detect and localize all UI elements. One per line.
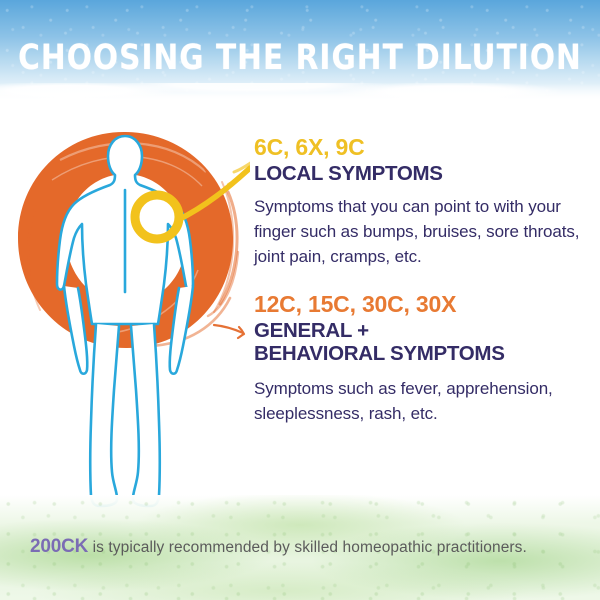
kicker-local-line1: LOCAL SYMPTOMS	[254, 162, 443, 185]
kicker-local: LOCAL SYMPTOMS	[254, 162, 584, 185]
body-diagram-svg	[0, 120, 250, 530]
footer-note: 200CK is typically recommended by skille…	[30, 536, 527, 558]
description-general: Symptoms such as fever, apprehension, sl…	[254, 376, 584, 426]
page-title: CHOOSING THE RIGHT DILUTION	[18, 38, 582, 78]
body-diagram	[0, 120, 250, 530]
footer-note-text: is typically recommended by skilled home…	[88, 539, 527, 556]
dilution-block-general: 12C, 15C, 30C, 30X GENERAL + BEHAVIORAL …	[254, 291, 584, 426]
dose-label-local: 6C, 6X, 9C	[254, 134, 584, 161]
infographic-poster: CHOOSING THE RIGHT DILUTION	[0, 0, 600, 600]
kicker-general: GENERAL + BEHAVIORAL SYMPTOMS	[254, 319, 584, 365]
footer-potency-label: 200CK	[30, 536, 88, 557]
dilution-list: 6C, 6X, 9C LOCAL SYMPTOMS Symptoms that …	[254, 134, 584, 446]
description-local: Symptoms that you can point to with your…	[254, 194, 584, 269]
dose-label-general: 12C, 15C, 30C, 30X	[254, 291, 584, 318]
kicker-general-line1: GENERAL +	[254, 319, 584, 342]
kicker-general-line2: BEHAVIORAL SYMPTOMS	[254, 342, 584, 365]
dilution-block-local: 6C, 6X, 9C LOCAL SYMPTOMS Symptoms that …	[254, 134, 584, 269]
